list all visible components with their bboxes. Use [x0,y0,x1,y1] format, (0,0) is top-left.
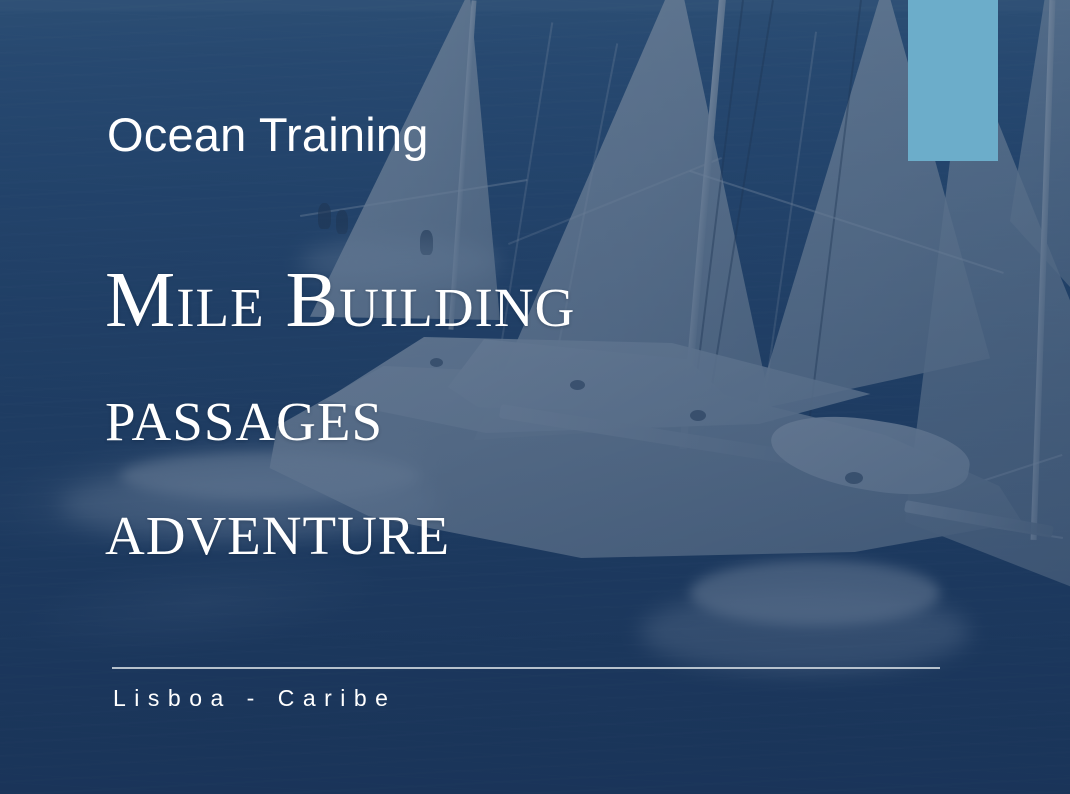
horizontal-divider [112,667,940,669]
brand-eyebrow: Ocean Training [107,109,429,161]
poster-canvas: Ocean Training Mile Building passages ad… [0,0,1070,794]
accent-rectangle [908,0,998,161]
headline-line-3: adventure [105,472,965,586]
headline-line-2: passages [105,358,965,472]
headline-line-1: Mile Building [105,244,965,358]
headline-block: Mile Building passages adventure [105,244,965,586]
route-caption: Lisboa - Caribe [113,685,396,712]
